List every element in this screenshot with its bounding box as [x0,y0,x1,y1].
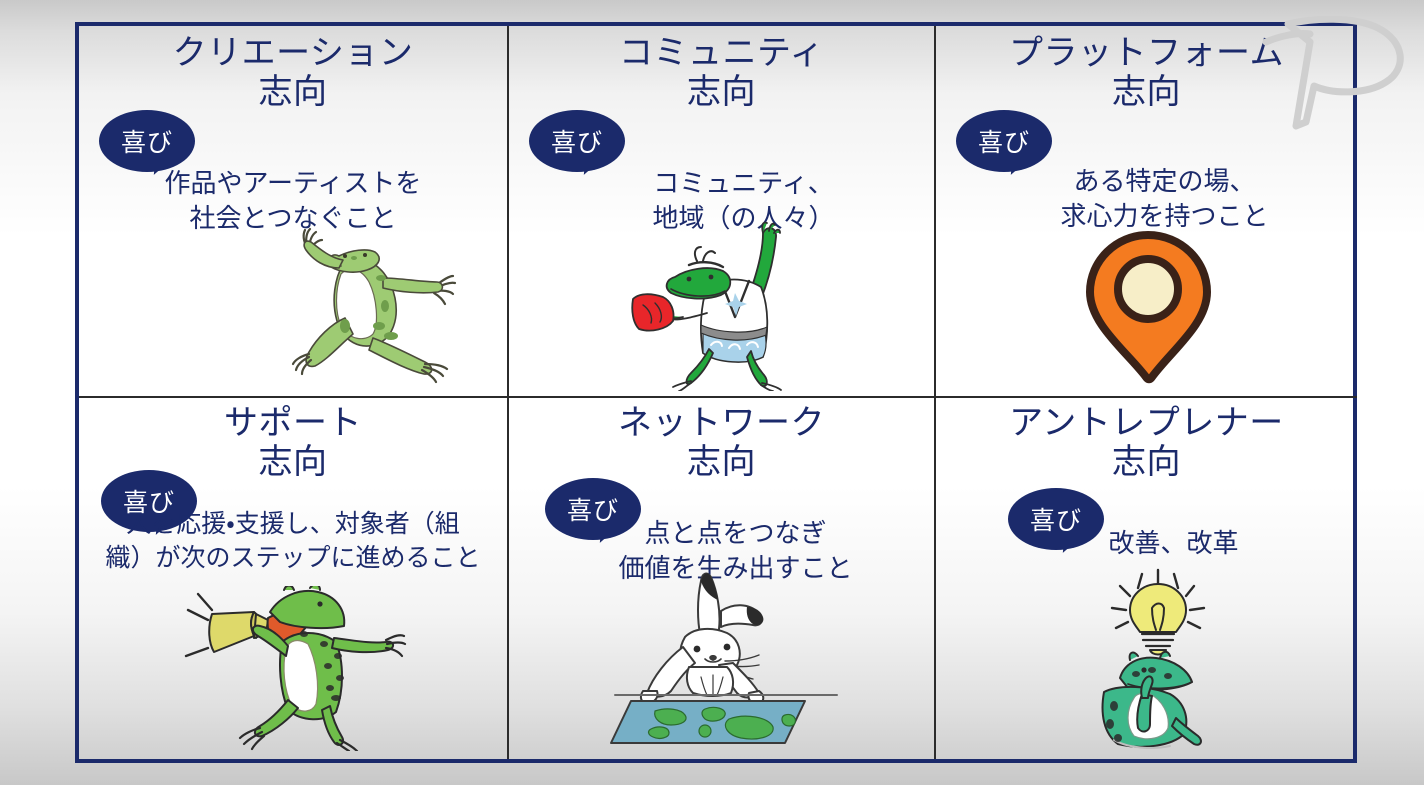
cell-title: アントレプレナー 志向 [936,398,1357,483]
frog-spread-illustration [269,226,499,391]
festival-frog-lantern-illustration [629,221,859,391]
joy-badge-label: 喜び [545,478,641,540]
cell-platform[interactable]: プラットフォーム 志向 喜び ある特定の場、 求心力を持つこと [936,26,1357,398]
joy-badge-label: 喜び [99,110,195,172]
joy-badge-label: 喜び [101,470,197,532]
cell-description: 作品やアーティストを 社会とつなぐこと [79,166,507,236]
joy-badge: 喜び [99,110,195,172]
cell-creation[interactable]: クリエーション 志向 喜び 作品やアーティストを 社会とつなぐこと [79,26,509,398]
joy-badge-label: 喜び [529,110,625,172]
cell-title: ネットワーク 志向 [509,398,934,483]
cell-title: クリエーション 志向 [79,26,507,113]
slide-canvas: クリエーション 志向 喜び 作品やアーティストを 社会とつなぐこと [0,0,1424,785]
joy-badge: 喜び [545,478,641,540]
joy-badge: 喜び [956,110,1052,172]
cell-description: コミュニティ、 地域（の人々） [553,166,934,236]
orientation-matrix-grid: クリエーション 志向 喜び 作品やアーティストを 社会とつなぐこと [75,22,1357,763]
cell-community[interactable]: コミュニティ 志向 喜び コミュニティ、 地域（の人々） [509,26,936,398]
cell-support[interactable]: サポート 志向 喜び 人を応援・支援し、対象者（組 織）が次のステップに進めるこ… [79,398,509,759]
joy-badge-label: 喜び [956,110,1052,172]
cell-title: コミュニティ 志向 [509,26,934,113]
joy-badge-label: 喜び [1008,488,1104,550]
cell-description: ある特定の場、 求心力を持つこと [972,164,1357,234]
frog-megaphone-illustration [184,586,429,751]
joy-badge: 喜び [101,470,197,532]
cell-title: プラットフォーム 志向 [936,26,1357,113]
joy-badge: 喜び [529,110,625,172]
rabbit-map-illustration [609,567,844,747]
cell-entrepreneur[interactable]: アントレプレナー 志向 喜び 改善、改革 [936,398,1357,759]
frog-lightbulb-idea-illustration [1076,566,1256,751]
cell-network[interactable]: ネットワーク 志向 喜び 点と点をつなぎ 価値を生み出すこと [509,398,936,759]
map-pin-icon [1076,229,1221,384]
joy-badge: 喜び [1008,488,1104,550]
